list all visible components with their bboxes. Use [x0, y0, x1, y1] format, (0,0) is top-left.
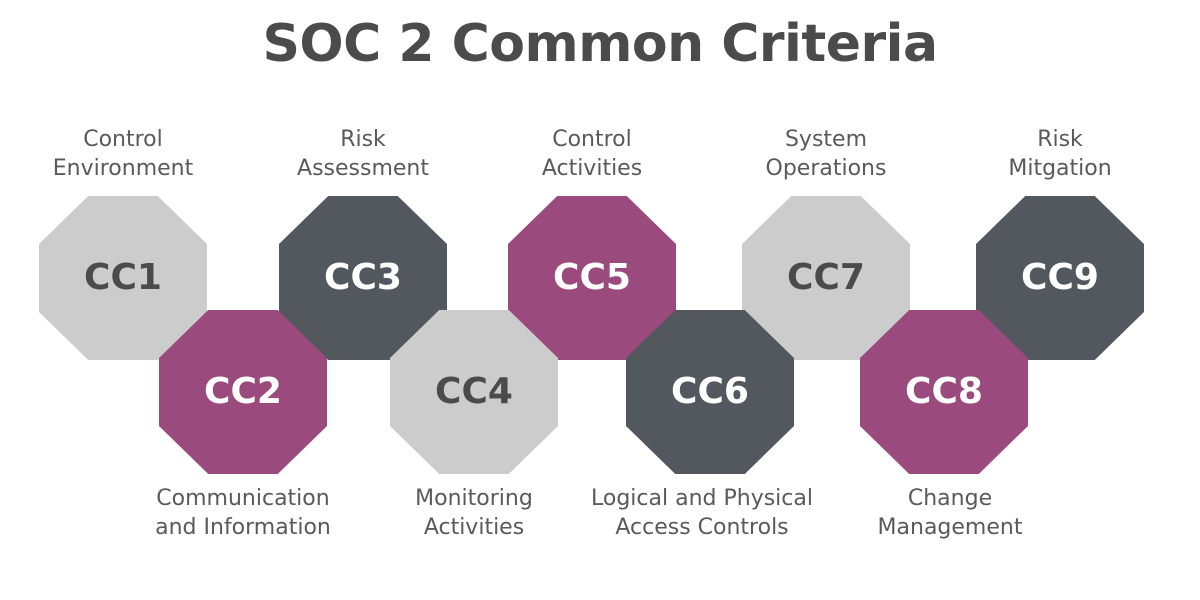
node-caption-cc5: Control Activities — [462, 125, 722, 183]
octagon-label-cc6: CC6 — [671, 374, 749, 410]
node-caption-cc3: Risk Assessment — [233, 125, 493, 183]
diagram-canvas: SOC 2 Common Criteria CC1CC2CC3CC4CC5CC6… — [0, 0, 1200, 600]
octagon-label-cc5: CC5 — [553, 260, 631, 296]
octagon-cc2[interactable]: CC2 — [159, 310, 327, 474]
node-caption-cc8: Change Management — [820, 484, 1080, 542]
octagon-label-cc8: CC8 — [905, 374, 983, 410]
node-caption-cc7: System Operations — [696, 125, 956, 183]
octagon-label-cc2: CC2 — [204, 374, 282, 410]
node-caption-cc1: Control Environment — [0, 125, 253, 183]
octagon-label-cc4: CC4 — [435, 374, 513, 410]
octagon-cc8[interactable]: CC8 — [860, 310, 1028, 474]
octagon-label-cc3: CC3 — [324, 260, 402, 296]
node-caption-cc4: Monitoring Activities — [344, 484, 604, 542]
node-caption-cc6: Logical and Physical Access Controls — [572, 484, 832, 542]
octagon-label-cc9: CC9 — [1021, 260, 1099, 296]
octagon-cc4[interactable]: CC4 — [390, 310, 558, 474]
octagon-label-cc1: CC1 — [84, 260, 162, 296]
octagon-cc1[interactable]: CC1 — [39, 196, 207, 360]
octagon-label-cc7: CC7 — [787, 260, 865, 296]
node-caption-cc9: Risk Mitgation — [930, 125, 1190, 183]
octagon-cc6[interactable]: CC6 — [626, 310, 794, 474]
node-caption-cc2: Communication and Information — [113, 484, 373, 542]
page-title: SOC 2 Common Criteria — [0, 14, 1200, 74]
